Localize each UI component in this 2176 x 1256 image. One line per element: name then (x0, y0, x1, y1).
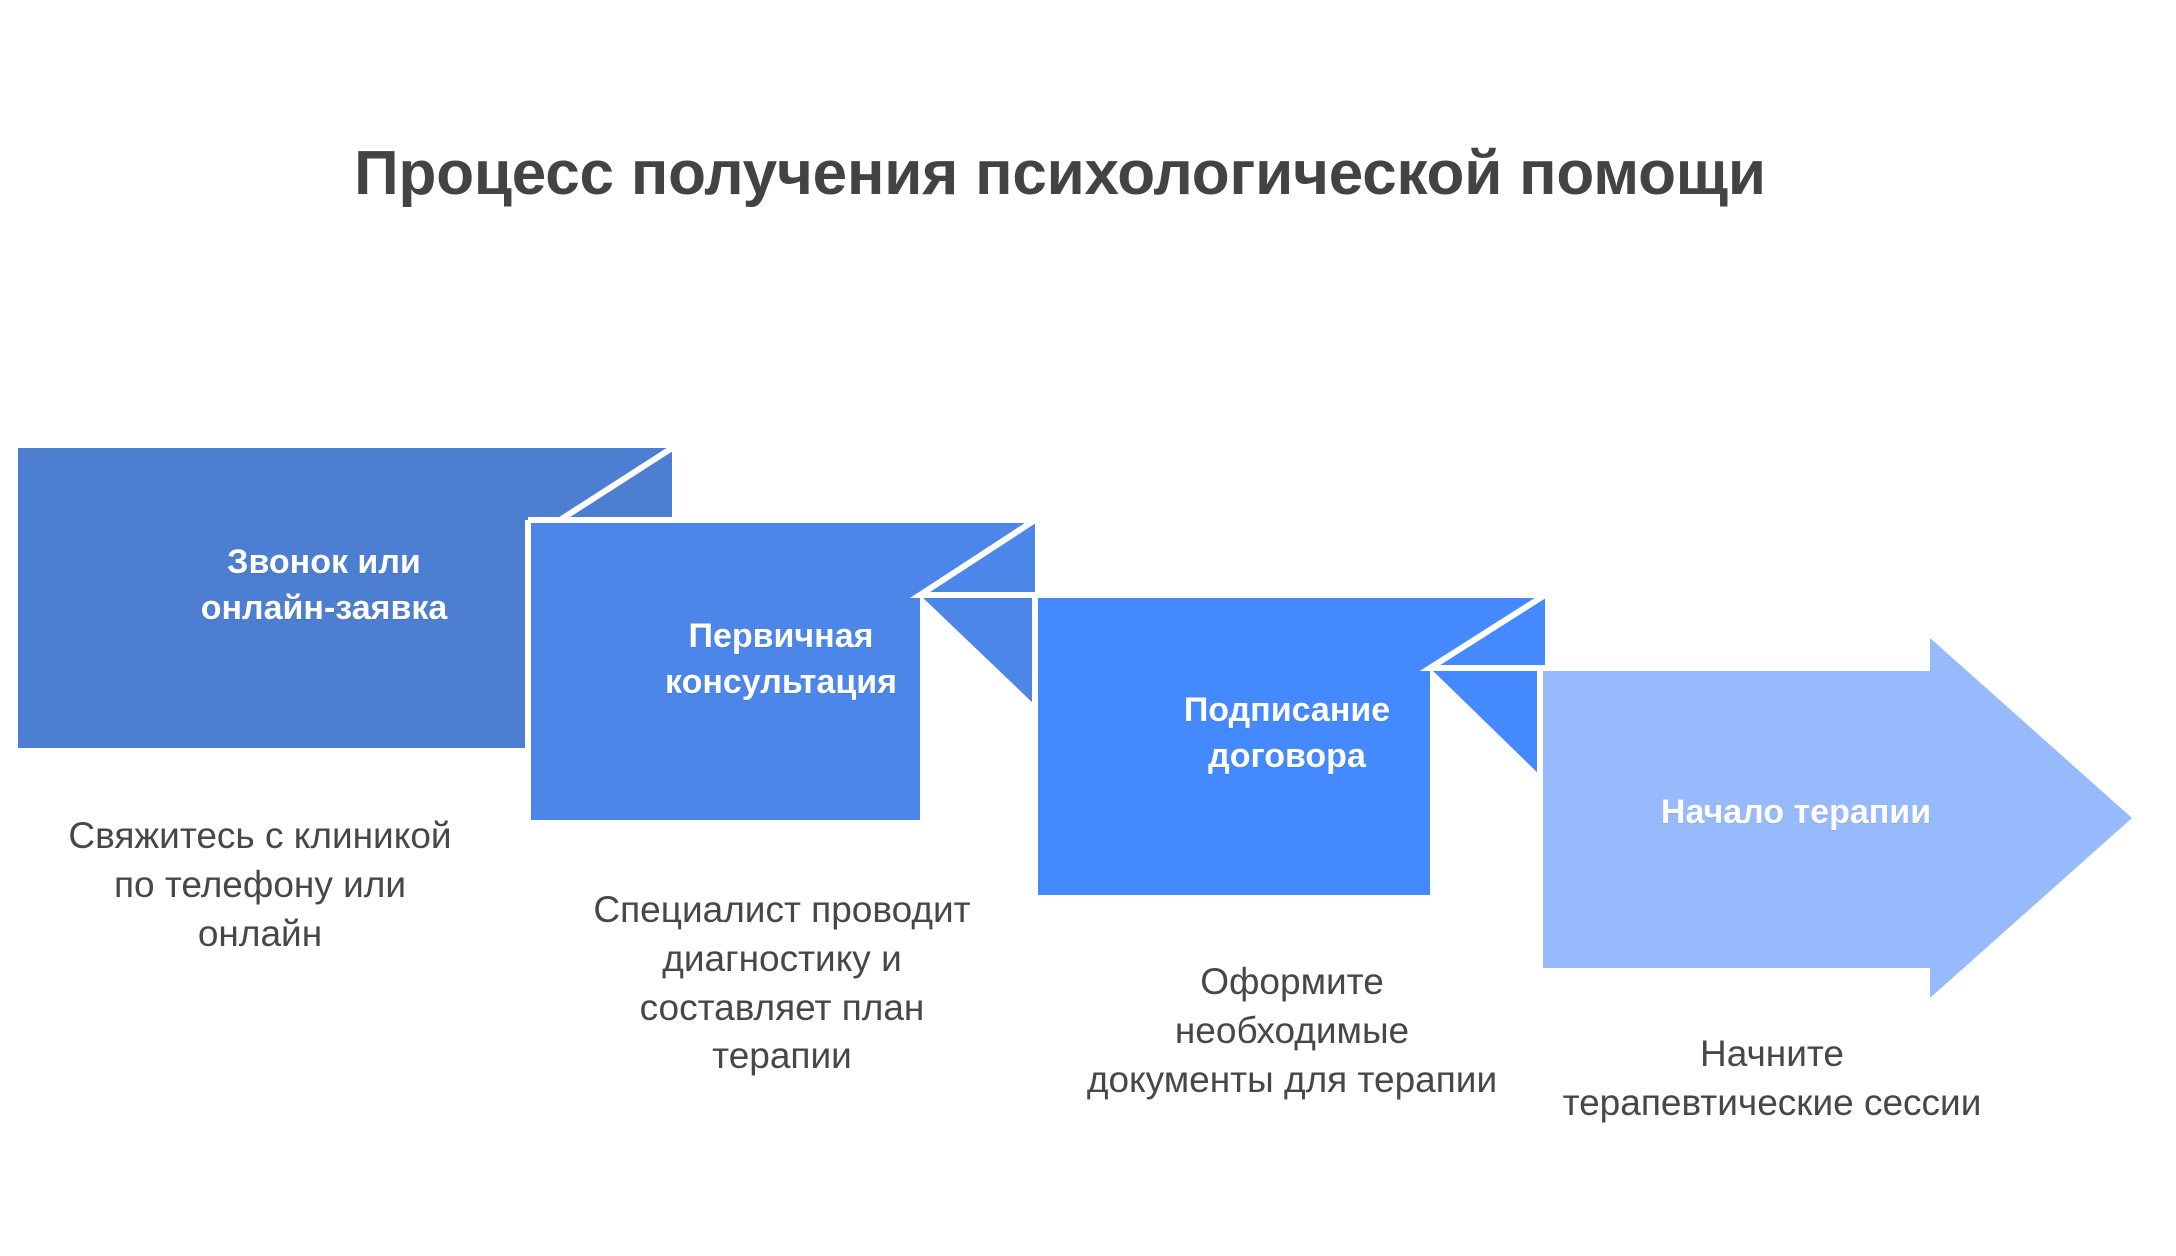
step-title-3: Подписание договора (1052, 688, 1522, 780)
step-title-4: Начало терапии (1556, 790, 2036, 836)
step-description-4: Начните терапевтические сессии (1562, 1030, 1982, 1128)
chevron-divider-1 (528, 448, 672, 520)
step-title-1-line-1: Звонок или (34, 540, 614, 586)
step-title-3-line-2: договора (1052, 734, 1522, 780)
chevron-divider-2 (920, 520, 1035, 595)
page-title: Процесс получения психологической помощи (0, 140, 2120, 208)
step-description-2: Специалист проводит диагностику и состав… (572, 886, 992, 1081)
step-description-1: Свяжитесь с клиникой по телефону или онл… (50, 812, 470, 958)
step-title-2: Первичная консультация (546, 614, 1016, 706)
step-title-2-line-2: консультация (546, 660, 1016, 706)
step-title-3-line-1: Подписание (1052, 688, 1522, 734)
chevron-divider-3 (1430, 595, 1545, 668)
step-description-3: Оформите необходимые документы для терап… (1082, 958, 1502, 1104)
step-title-1-line-2: онлайн-заявка (34, 586, 614, 632)
step-title-4-line-1: Начало терапии (1556, 790, 2036, 836)
step-title-2-line-1: Первичная (546, 614, 1016, 660)
step-title-1: Звонок или онлайн-заявка (34, 540, 614, 632)
slide-canvas: Процесс получения психологической помощи (0, 0, 2176, 1256)
